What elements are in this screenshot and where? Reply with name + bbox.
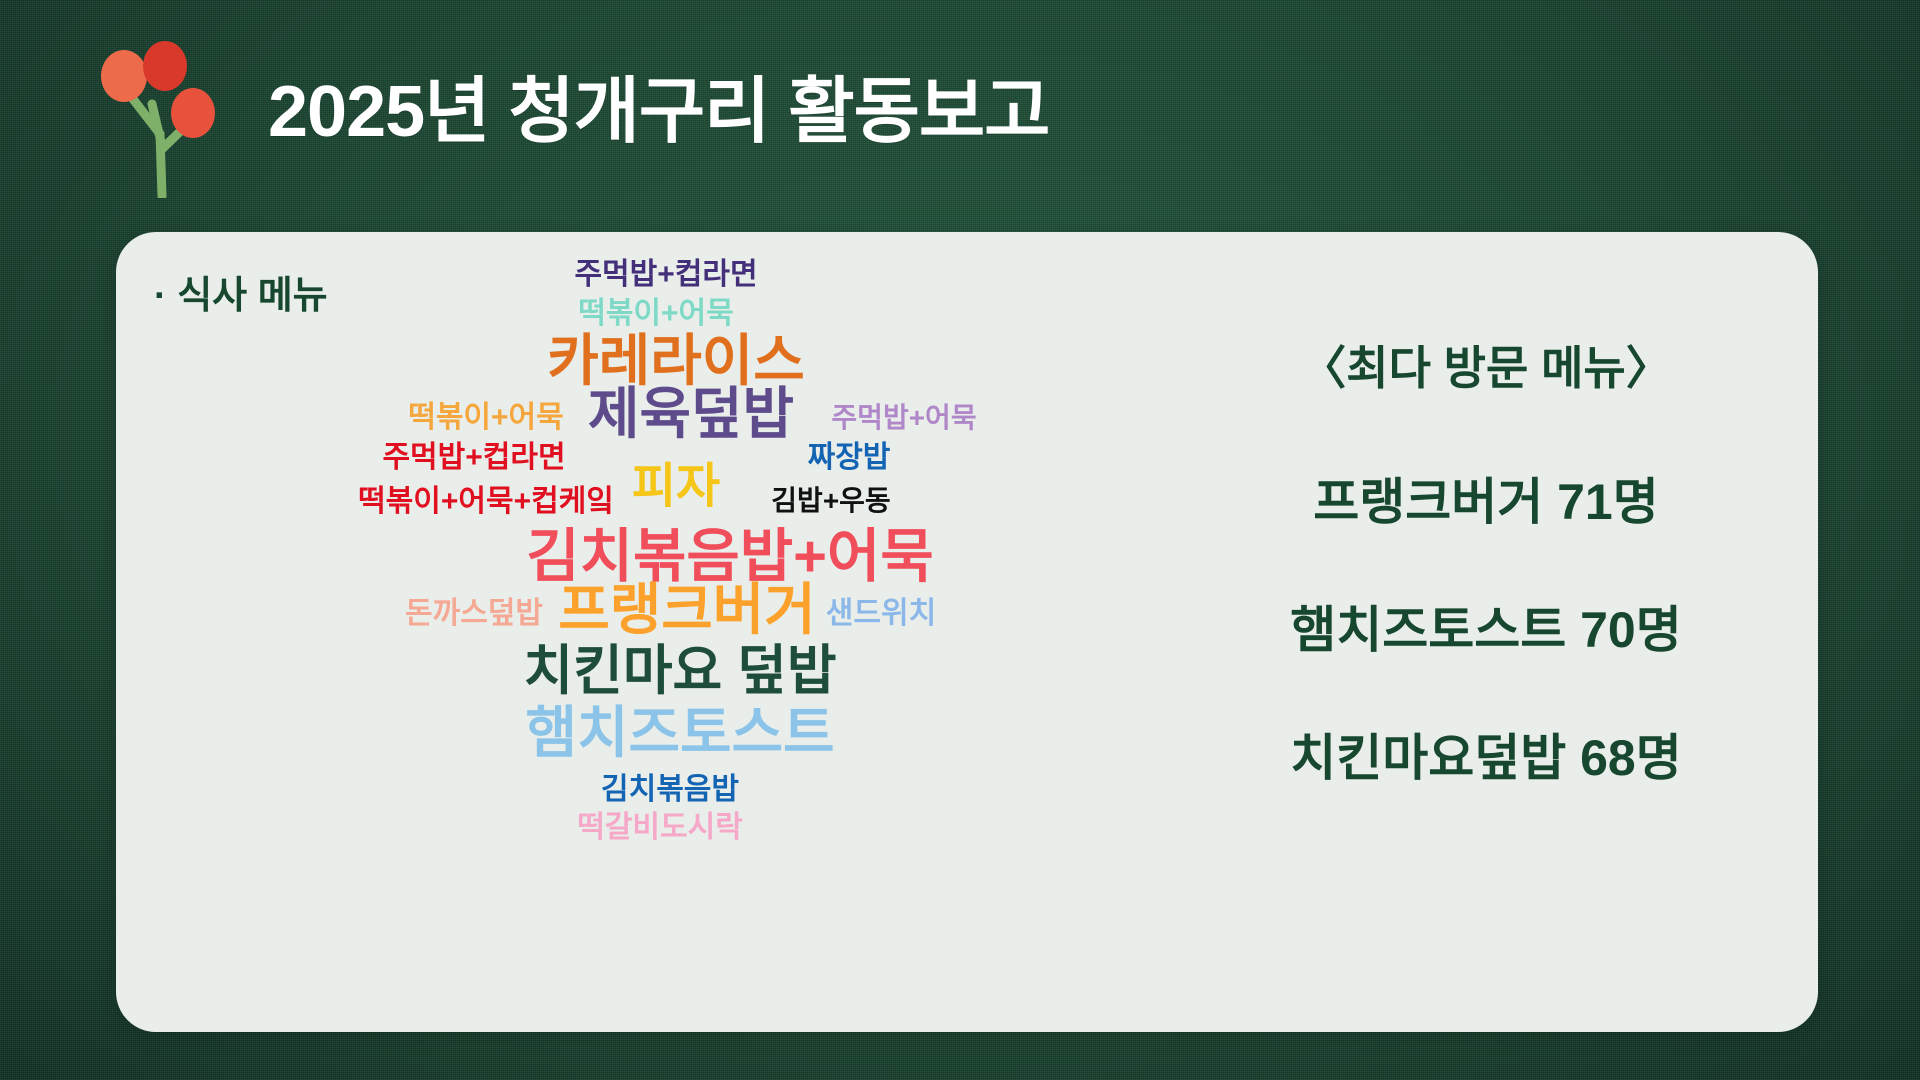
slide-canvas: 2025년 청개구리 활동보고 · 식사 메뉴 주먹밥+컵라면떡볶이+어묵카레라… xyxy=(0,0,1920,1080)
wordcloud-word: 떡볶이+어묵 xyxy=(578,299,734,329)
wordcloud-word: 주먹밥+컵라면 xyxy=(382,443,565,473)
wordcloud-word: 피자 xyxy=(632,463,720,511)
berry-branch-icon xyxy=(100,38,230,198)
wordcloud-word: 프랭크버거 xyxy=(558,582,816,638)
wordcloud-word: 주먹밥+어묵 xyxy=(831,404,976,432)
wordcloud: 주먹밥+컵라면떡볶이+어묵카레라이스떡볶이+어묵제육덮밥주먹밥+어묵주먹밥+컵라… xyxy=(236,232,1136,1032)
wordcloud-word: 제육덮밥 xyxy=(588,386,794,442)
wordcloud-word: 떡갈비도시락 xyxy=(577,813,743,843)
wordcloud-word: 카레라이스 xyxy=(547,333,805,389)
wordcloud-word: 짜장밥 xyxy=(808,443,891,473)
wordcloud-word: 치킨마요 덮밥 xyxy=(523,644,836,698)
wordcloud-word: 김치볶음밥 xyxy=(601,775,739,805)
wordcloud-word: 떡볶이+어묵+컵케잌 xyxy=(358,487,614,517)
wordcloud-word: 돈까스덮밥 xyxy=(405,599,543,629)
top-visited-menu-panel: 〈최다 방문 메뉴〉 프랭크버거 71명햄치즈토스트 70명치킨마요덮밥 68명 xyxy=(1176,332,1796,846)
ranking-row: 햄치즈토스트 70명 xyxy=(1176,590,1796,662)
page-title: 2025년 청개구리 활동보고 xyxy=(268,52,1049,157)
content-card: · 식사 메뉴 주먹밥+컵라면떡볶이+어묵카레라이스떡볶이+어묵제육덮밥주먹밥+… xyxy=(116,232,1818,1032)
ranking-title: 〈최다 방문 메뉴〉 xyxy=(1176,332,1796,398)
ranking-row: 치킨마요덮밥 68명 xyxy=(1176,718,1796,790)
wordcloud-word: 샌드위치 xyxy=(826,599,936,629)
wordcloud-word: 햄치즈토스트 xyxy=(525,705,834,761)
wordcloud-word: 떡볶이+어묵 xyxy=(408,403,564,433)
ranking-row: 프랭크버거 71명 xyxy=(1176,462,1796,534)
wordcloud-word: 주먹밥+컵라면 xyxy=(574,260,757,290)
ranking-rows: 프랭크버거 71명햄치즈토스트 70명치킨마요덮밥 68명 xyxy=(1176,462,1796,790)
wordcloud-word: 김밥+우동 xyxy=(771,487,890,515)
